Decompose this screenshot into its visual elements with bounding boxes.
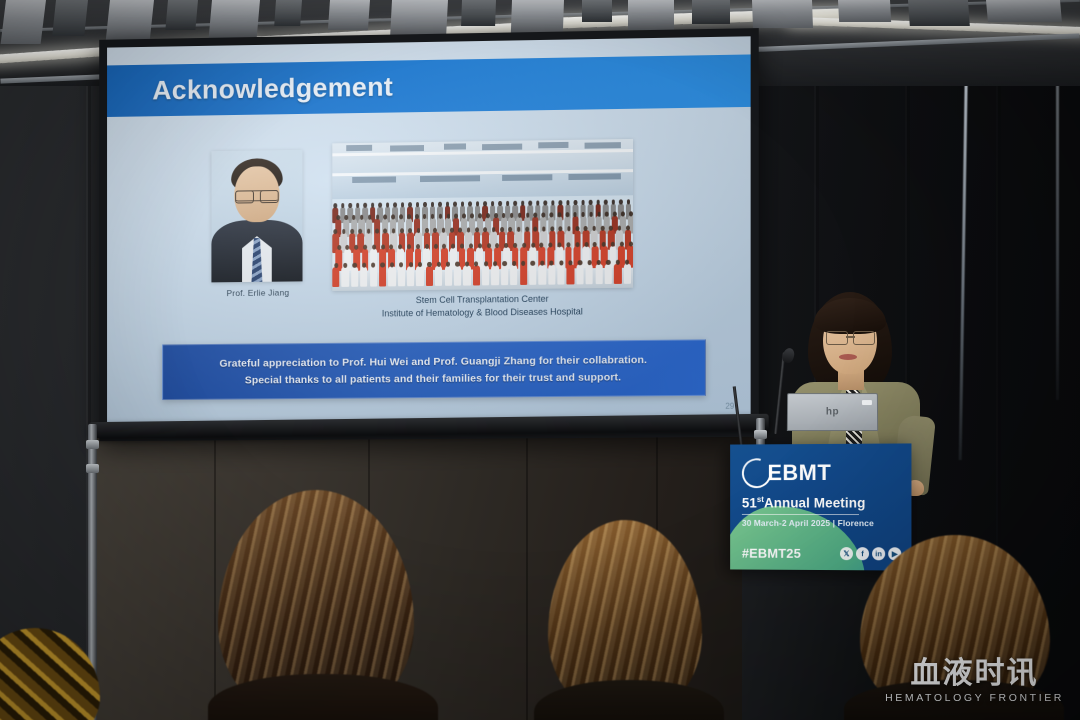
group-photo-person-head [375, 229, 379, 234]
projection-screen: Acknowledgement Prof. [99, 28, 759, 441]
group-photo-person-head [626, 225, 630, 230]
group-photo-person-head [494, 213, 498, 218]
group-photo-person-head [427, 262, 431, 267]
group-photo-person-head [512, 261, 516, 266]
group-photo-person-head [584, 242, 588, 247]
group-photo-person-head [581, 200, 584, 205]
building-window-6 [585, 142, 621, 149]
group-photo-person-head [453, 202, 456, 207]
group-photo-person-head [401, 202, 404, 207]
group-photo-person [482, 265, 489, 285]
portrait-caption: Prof. Erlie Jiang [178, 287, 338, 299]
group-photo-person-head [372, 245, 376, 250]
group-photo-person-head [557, 212, 561, 217]
portrait-glasses-icon [235, 190, 279, 202]
audience-member-right [860, 535, 1060, 720]
post-clamp-right-top [754, 430, 767, 439]
presentation-slide: Acknowledgement Prof. [107, 36, 751, 433]
group-photo-person-head [415, 214, 419, 219]
group-photo-person [332, 267, 339, 287]
group-photo-person-head [502, 261, 506, 266]
group-photo-person-head [450, 228, 454, 233]
group-photo-person-head [446, 202, 449, 207]
audience-member-left [218, 490, 428, 720]
group-photo-person [605, 264, 612, 284]
group-photo-person-head [500, 227, 504, 232]
thanks-line-2: Special thanks to all patients and their… [245, 371, 621, 386]
group-photo-person-head [478, 243, 482, 248]
group-photo-person-head [506, 201, 509, 206]
group-photo-person-head [341, 203, 344, 208]
group-photo-person-head [619, 199, 622, 204]
portrait-photo [211, 150, 302, 283]
building-window-1 [346, 145, 372, 151]
group-photo-person [398, 266, 405, 286]
group-photo-person-head [468, 201, 471, 206]
group-photo-person-head [462, 213, 466, 218]
group-photo-person-head [408, 202, 411, 207]
portrait-photo-wrapper [211, 150, 302, 283]
speaker-glasses-icon [826, 331, 875, 343]
group-photo-person-head [425, 228, 429, 233]
group-photo-person-head [390, 262, 394, 267]
group-photo-person-head [416, 244, 420, 249]
group-photo-person-head [475, 227, 479, 232]
group-photo-person-head [400, 228, 404, 233]
group-photo-person-head [611, 200, 614, 205]
group-photo [332, 139, 633, 291]
group-photo-person-head [486, 213, 490, 218]
group-photo-person [379, 266, 386, 286]
building-window-4 [482, 144, 522, 151]
group-photo-person [529, 265, 536, 285]
group-photo-person-head [416, 202, 419, 207]
podium-dates: 30 March-2 April 2025 | Florence [742, 517, 899, 527]
group-photo-person-head [513, 201, 516, 206]
group-photo-person-head [455, 262, 459, 267]
presenter-laptop[interactable]: hp [787, 393, 878, 431]
group-photo-person-head [551, 200, 554, 205]
group-photo-person-head [391, 214, 395, 219]
group-photo-building [332, 139, 633, 199]
building-window-7 [352, 176, 396, 183]
group-photo-person-head [540, 261, 544, 266]
group-photo-person-head [465, 262, 469, 267]
screenshot-stage: Acknowledgement Prof. [0, 0, 1080, 720]
group-photo-person-head [528, 201, 531, 206]
group-photo-person [520, 265, 527, 285]
group-photo-person-head [566, 200, 569, 205]
screen-surface: Acknowledgement Prof. [107, 36, 751, 433]
group-photo-person-head [378, 203, 381, 208]
group-photo-person-head [576, 226, 580, 231]
building-window-8 [420, 175, 480, 182]
group-photo-person [567, 264, 574, 284]
group-photo-person [342, 267, 349, 287]
group-photo-person-head [334, 263, 338, 268]
group-photo-person-head [621, 211, 625, 216]
ceiling-baffle-7 [328, 0, 370, 30]
ceiling-baffle-13 [692, 0, 730, 24]
group-photo-person-head [363, 245, 367, 250]
ceiling-baffle-9 [461, 0, 496, 26]
group-photo-caption: Stem Cell Transplantation Center Institu… [332, 292, 633, 321]
group-photo-person [370, 267, 377, 287]
group-photo-person [388, 266, 395, 286]
group-photo-person-head [363, 203, 366, 208]
group-photo-person-head [478, 213, 482, 218]
group-photo-person-head [550, 226, 554, 231]
group-photo-person-head [393, 202, 396, 207]
slide-number: 29 [725, 402, 734, 411]
ceiling-baffle-5 [209, 0, 260, 38]
group-photo-person [501, 265, 508, 285]
group-photo-person-head [348, 203, 351, 208]
group-photo-person [548, 265, 555, 285]
ceiling-baffle-1 [1, 0, 46, 44]
group-photo-person-head [333, 203, 336, 208]
ceiling-baffle-15 [838, 0, 891, 22]
group-photo-person-head [627, 199, 630, 204]
laptop-indicator [862, 400, 872, 405]
group-photo-person [539, 265, 546, 285]
group-photo-person-head [437, 262, 441, 267]
group-photo-person-head [616, 260, 620, 265]
wall-light-seam-far-right [1056, 70, 1059, 400]
group-photo-person-head [407, 214, 411, 219]
group-photo-person-head [409, 262, 413, 267]
group-photo-person-head [498, 201, 501, 206]
group-photo-person-head [521, 201, 524, 206]
group-photo-person-head [606, 260, 610, 265]
group-photo-person-head [587, 260, 591, 265]
speaker-presenter [786, 290, 926, 465]
ceiling-baffle-12 [628, 0, 674, 30]
thanks-line-1: Grateful appreciation to Prof. Hui Wei a… [219, 354, 647, 370]
group-photo-person-head [604, 200, 607, 205]
acknowledgement-banner: Grateful appreciation to Prof. Hui Wei a… [162, 339, 706, 400]
group-photo-person-head [574, 200, 577, 205]
slide-title-bar: Acknowledgement [107, 54, 751, 117]
group-photo-person-head [589, 200, 592, 205]
group-photo-person-head [352, 263, 356, 268]
group-photo-person-head [566, 242, 570, 247]
group-caption-line-2: Institute of Hematology & Blood Diseases… [332, 305, 633, 321]
drape-fold-1 [214, 432, 216, 720]
ebmt-logo: EBMT [742, 458, 899, 489]
podium-meeting-title: 51stAnnual Meeting [742, 495, 899, 511]
x-twitter-icon[interactable]: 𝕏 [840, 547, 853, 560]
building-window-5 [538, 142, 568, 148]
slide-body: Prof. Erlie Jiang [107, 109, 751, 433]
group-photo-person-head [487, 243, 491, 248]
group-photo-person-head [438, 202, 441, 207]
group-photo-person-head [513, 243, 517, 248]
group-photo-person-head [483, 201, 486, 206]
ceiling-baffle-4 [165, 0, 198, 30]
group-photo-person [473, 265, 480, 285]
meeting-number: 51 [742, 496, 757, 511]
podium-hashtag: #EBMT25 [742, 546, 801, 561]
group-photo-person-head [386, 202, 389, 207]
group-photo-person-head [613, 212, 617, 217]
group-photo-person [557, 264, 564, 284]
group-photo-person-head [534, 213, 538, 218]
group-photo-person-head [575, 242, 579, 247]
group-photo-person [407, 266, 414, 286]
group-photo-person [426, 266, 433, 286]
group-photo-person [463, 265, 470, 285]
group-photo-person-head [484, 261, 488, 266]
speaker-mouth [839, 354, 857, 360]
group-photo-person [454, 266, 461, 286]
ceiling-baffle-11 [582, 0, 612, 22]
group-photo-person-head [542, 212, 546, 217]
group-photo-person-head [597, 212, 601, 217]
group-photo-person-head [476, 201, 479, 206]
building-window-10 [568, 173, 620, 180]
group-photo-person-head [526, 213, 530, 218]
group-photo-person-head [434, 244, 438, 249]
group-photo-person-head [601, 226, 605, 231]
group-photo-person-head [629, 211, 633, 216]
group-photo-person [435, 266, 442, 286]
group-photo-person-head [383, 214, 387, 219]
slide-title: Acknowledgement [152, 71, 393, 106]
drape-fold-3 [526, 432, 528, 720]
ceiling-baffle-2 [52, 0, 88, 36]
group-photo-person-head [337, 245, 341, 250]
group-photo-person-head [629, 242, 633, 247]
group-photo-person-head [549, 212, 553, 217]
ceiling-baffle-17 [986, 0, 1062, 22]
group-photo-person-head [491, 201, 494, 206]
audience-head [0, 628, 100, 720]
building-window-9 [502, 174, 552, 181]
group-photo-person-head [380, 262, 384, 267]
group-photo-person-head [469, 243, 473, 248]
ceiling-baffle-6 [274, 0, 302, 26]
meeting-title-text: Annual Meeting [764, 495, 865, 510]
group-photo-person-head [559, 200, 562, 205]
ceiling-baffle-10 [511, 0, 564, 34]
group-photo-person-head [525, 227, 529, 232]
laptop-brand-logo: hp [826, 407, 839, 418]
group-photo-person-head [376, 215, 380, 220]
group-photo-person-head [399, 214, 403, 219]
meeting-ordinal: st [757, 495, 764, 504]
group-photo-person-head [431, 202, 434, 207]
group-photo-person-head [371, 203, 374, 208]
post-clamp-left-top [86, 440, 99, 449]
ebmt-swoosh-icon [737, 453, 777, 493]
group-photo-person [624, 264, 631, 284]
group-photo-person [416, 266, 423, 286]
group-photo-person [614, 264, 621, 284]
group-photo-person-head [381, 244, 385, 249]
group-photo-person [444, 266, 451, 286]
group-photo-person [351, 267, 358, 287]
podium-divider [742, 513, 859, 514]
building-window-2 [390, 145, 424, 151]
group-photo-person-head [461, 201, 464, 206]
audience-member-center [548, 520, 708, 720]
post-clamp-left-mid [86, 464, 99, 473]
ceiling-baffle-14 [752, 0, 813, 28]
ceiling-baffle-3 [106, 0, 154, 40]
audience-member-far-left [0, 610, 120, 720]
group-photo-person-head [596, 200, 599, 205]
group-photo-person-head [531, 243, 535, 248]
group-photo-person [586, 264, 593, 284]
group-photo-person-head [470, 213, 474, 218]
group-photo-person [360, 267, 367, 287]
group-photo-person-head [522, 243, 526, 248]
group-photo-person-head [531, 261, 535, 266]
group-photo-person-head [350, 229, 354, 234]
group-photo-person [491, 265, 498, 285]
group-photo-person-head [565, 212, 569, 217]
group-photo-person-head [620, 242, 624, 247]
group-photo-person-head [578, 260, 582, 265]
group-photo-person-head [425, 244, 429, 249]
group-photo-person [510, 265, 517, 285]
ebmt-wordmark: EBMT [767, 460, 831, 486]
group-photo-person-head [362, 263, 366, 268]
group-photo-person [595, 264, 602, 284]
group-photo-person-head [336, 215, 340, 220]
group-photo-person-head [344, 215, 348, 220]
group-photo-person [576, 264, 583, 284]
group-photo-person-head [543, 200, 546, 205]
group-photo-person-head [447, 214, 451, 219]
ceiling-baffle-16 [908, 0, 970, 26]
group-photo-person-head [559, 260, 563, 265]
group-photo-person-head [423, 202, 426, 207]
building-window-3 [444, 143, 466, 149]
group-photo-person-head [356, 203, 359, 208]
group-photo-person-head [536, 201, 539, 206]
